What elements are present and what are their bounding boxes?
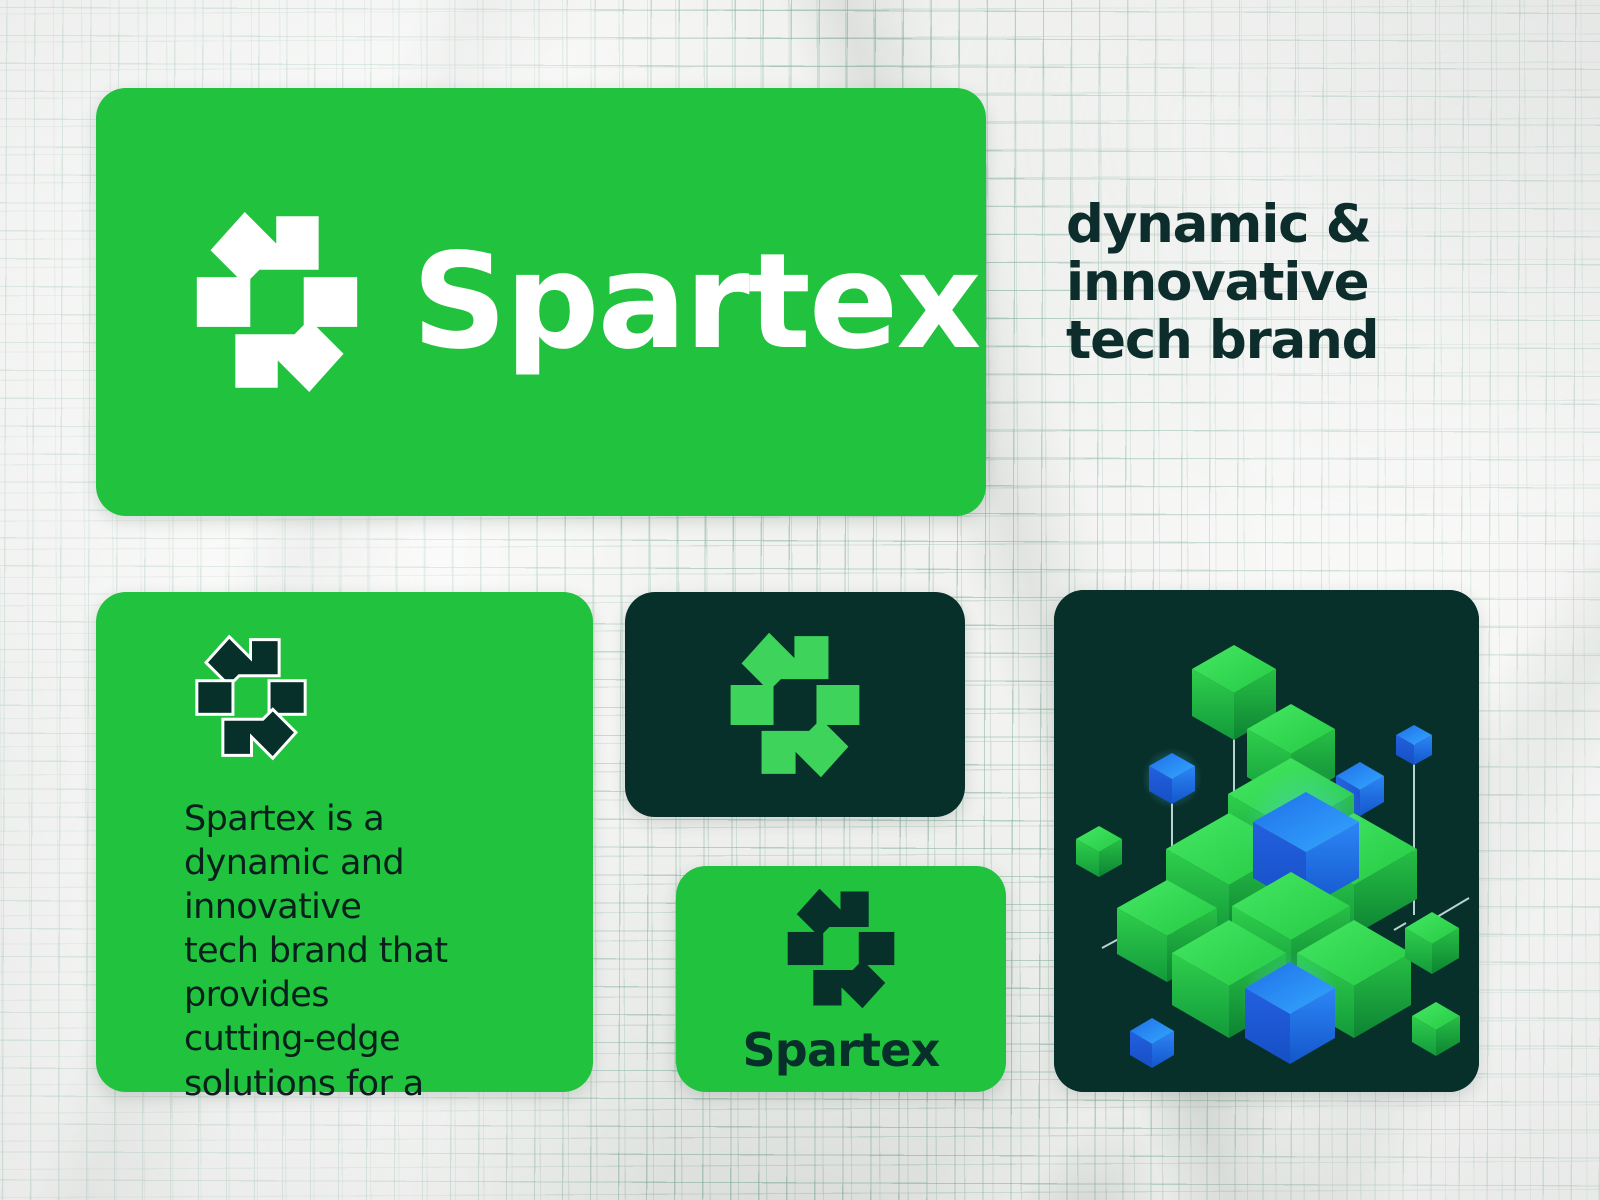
tagline-line-1: dynamic & xyxy=(1066,196,1486,254)
description-line: solutions for a xyxy=(184,1062,567,1106)
vertical-lockup-card: Spartex xyxy=(676,866,1006,1092)
tagline: dynamic & innovative tech brand xyxy=(1066,196,1486,369)
spartex-mark-icon xyxy=(188,208,366,396)
description-card: Spartex is a dynamic and innovative tech… xyxy=(96,592,593,1092)
description-line: provides xyxy=(184,973,567,1017)
spartex-mark-icon xyxy=(782,886,900,1011)
description-line: tech brand that xyxy=(184,929,567,973)
lockup-wordmark: Spartex xyxy=(742,1027,939,1073)
spartex-mark-icon xyxy=(724,629,867,780)
description-line: dynamic and xyxy=(184,841,567,885)
hero-wordmark: Spartex xyxy=(412,236,980,368)
spartex-mark-icon xyxy=(191,634,311,761)
isometric-blockchain-cubes-icon xyxy=(1054,590,1479,1092)
cube xyxy=(1142,748,1202,808)
description-body: Spartex is a dynamic and innovative tech… xyxy=(184,797,567,1106)
brand-board: Spartex dynamic & innovative tech brand … xyxy=(0,0,1600,1200)
hero-logo-card: Spartex xyxy=(96,88,986,516)
dark-mark-card xyxy=(625,592,965,817)
tagline-line-2: innovative xyxy=(1066,254,1486,312)
description-line: Spartex is a xyxy=(184,797,567,841)
tagline-line-3: tech brand xyxy=(1066,312,1486,370)
illustration-card xyxy=(1054,590,1479,1092)
description-line: cutting-edge xyxy=(184,1017,567,1061)
description-line: innovative xyxy=(184,885,567,929)
